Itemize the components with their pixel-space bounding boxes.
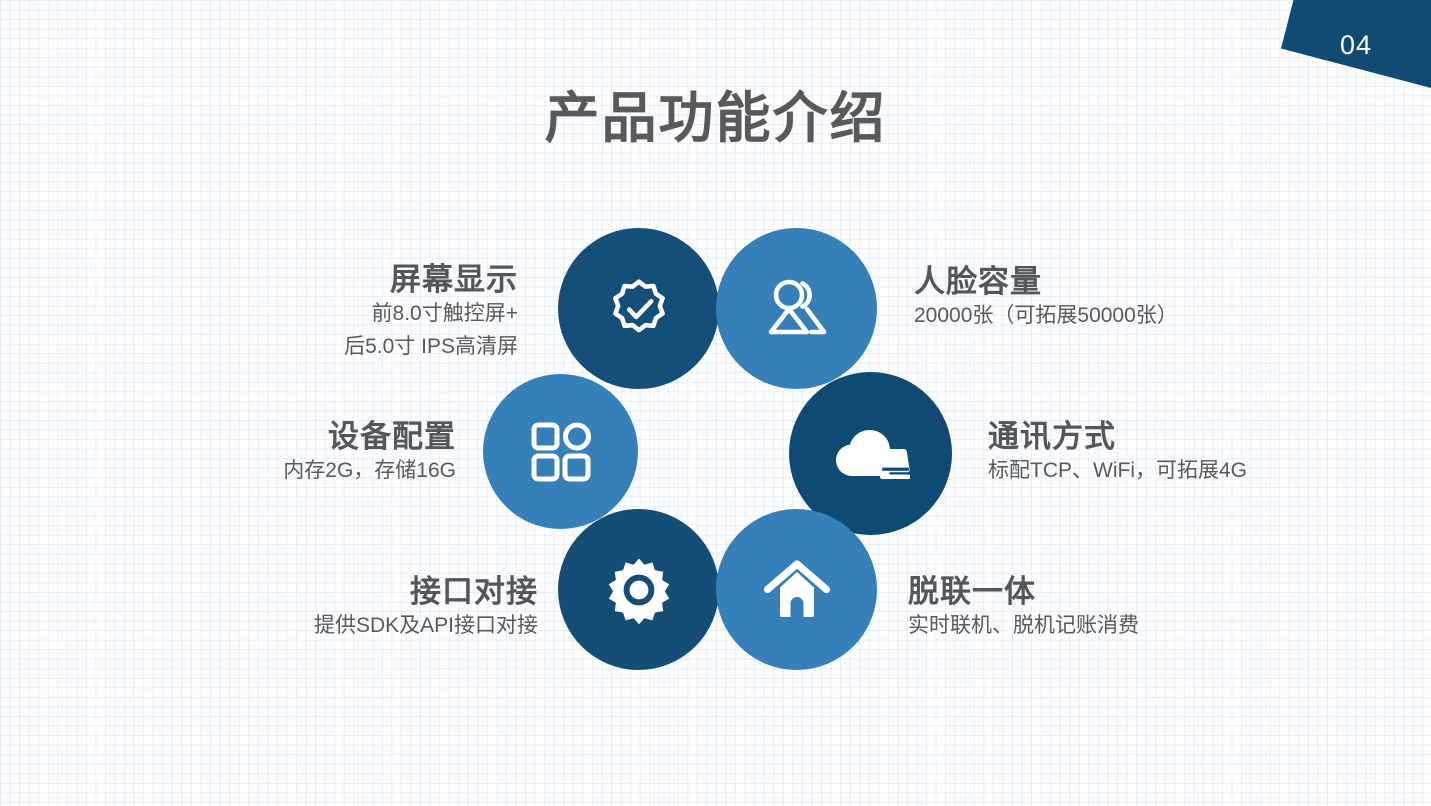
- verified-badge-icon: [606, 276, 672, 342]
- caption-desc-line2: 后5.0寸 IPS高清屏: [344, 331, 518, 364]
- circle-screen-display[interactable]: [558, 228, 719, 389]
- caption-title: 屏幕显示: [344, 261, 518, 298]
- feature-circle-cluster: [483, 228, 958, 670]
- caption-offline-online: 脱联一体 实时联机、脱机记账消费: [908, 573, 1139, 643]
- circle-face-capacity[interactable]: [716, 228, 877, 389]
- caption-communication: 通讯方式 标配TCP、WiFi，可拓展4G: [988, 418, 1247, 488]
- gear-icon: [605, 556, 673, 624]
- slide-canvas: 04 产品功能介绍: [0, 0, 1431, 806]
- caption-title: 通讯方式: [988, 418, 1247, 455]
- caption-desc-line1: 20000张（可拓展50000张）: [914, 300, 1178, 333]
- caption-face-capacity: 人脸容量 20000张（可拓展50000张）: [914, 263, 1178, 333]
- caption-desc-line1: 前8.0寸触控屏+: [344, 298, 518, 331]
- caption-title: 接口对接: [314, 573, 538, 610]
- caption-desc-line1: 提供SDK及API接口对接: [314, 610, 538, 643]
- page-title: 产品功能介绍: [0, 73, 1431, 153]
- page-number-text: 04: [1340, 30, 1372, 61]
- circle-api-docking[interactable]: [558, 509, 719, 670]
- circle-device-config[interactable]: [483, 374, 638, 529]
- caption-api-docking: 接口对接 提供SDK及API接口对接: [314, 573, 538, 643]
- caption-screen-display: 屏幕显示 前8.0寸触控屏+ 后5.0寸 IPS高清屏: [344, 261, 518, 363]
- cloud-device-icon: [832, 424, 910, 484]
- caption-title: 脱联一体: [908, 573, 1139, 610]
- caption-device-config: 设备配置 内存2G，存储16G: [283, 418, 456, 488]
- caption-desc-line1: 实时联机、脱机记账消费: [908, 610, 1139, 643]
- caption-desc-line1: 内存2G，存储16G: [283, 455, 456, 488]
- caption-desc-line1: 标配TCP、WiFi，可拓展4G: [988, 455, 1247, 488]
- apps-grid-icon: [530, 421, 592, 483]
- circle-offline-online[interactable]: [716, 509, 877, 670]
- caption-title: 设备配置: [283, 418, 456, 455]
- users-icon: [761, 274, 833, 344]
- home-icon: [759, 556, 835, 624]
- caption-title: 人脸容量: [914, 263, 1178, 300]
